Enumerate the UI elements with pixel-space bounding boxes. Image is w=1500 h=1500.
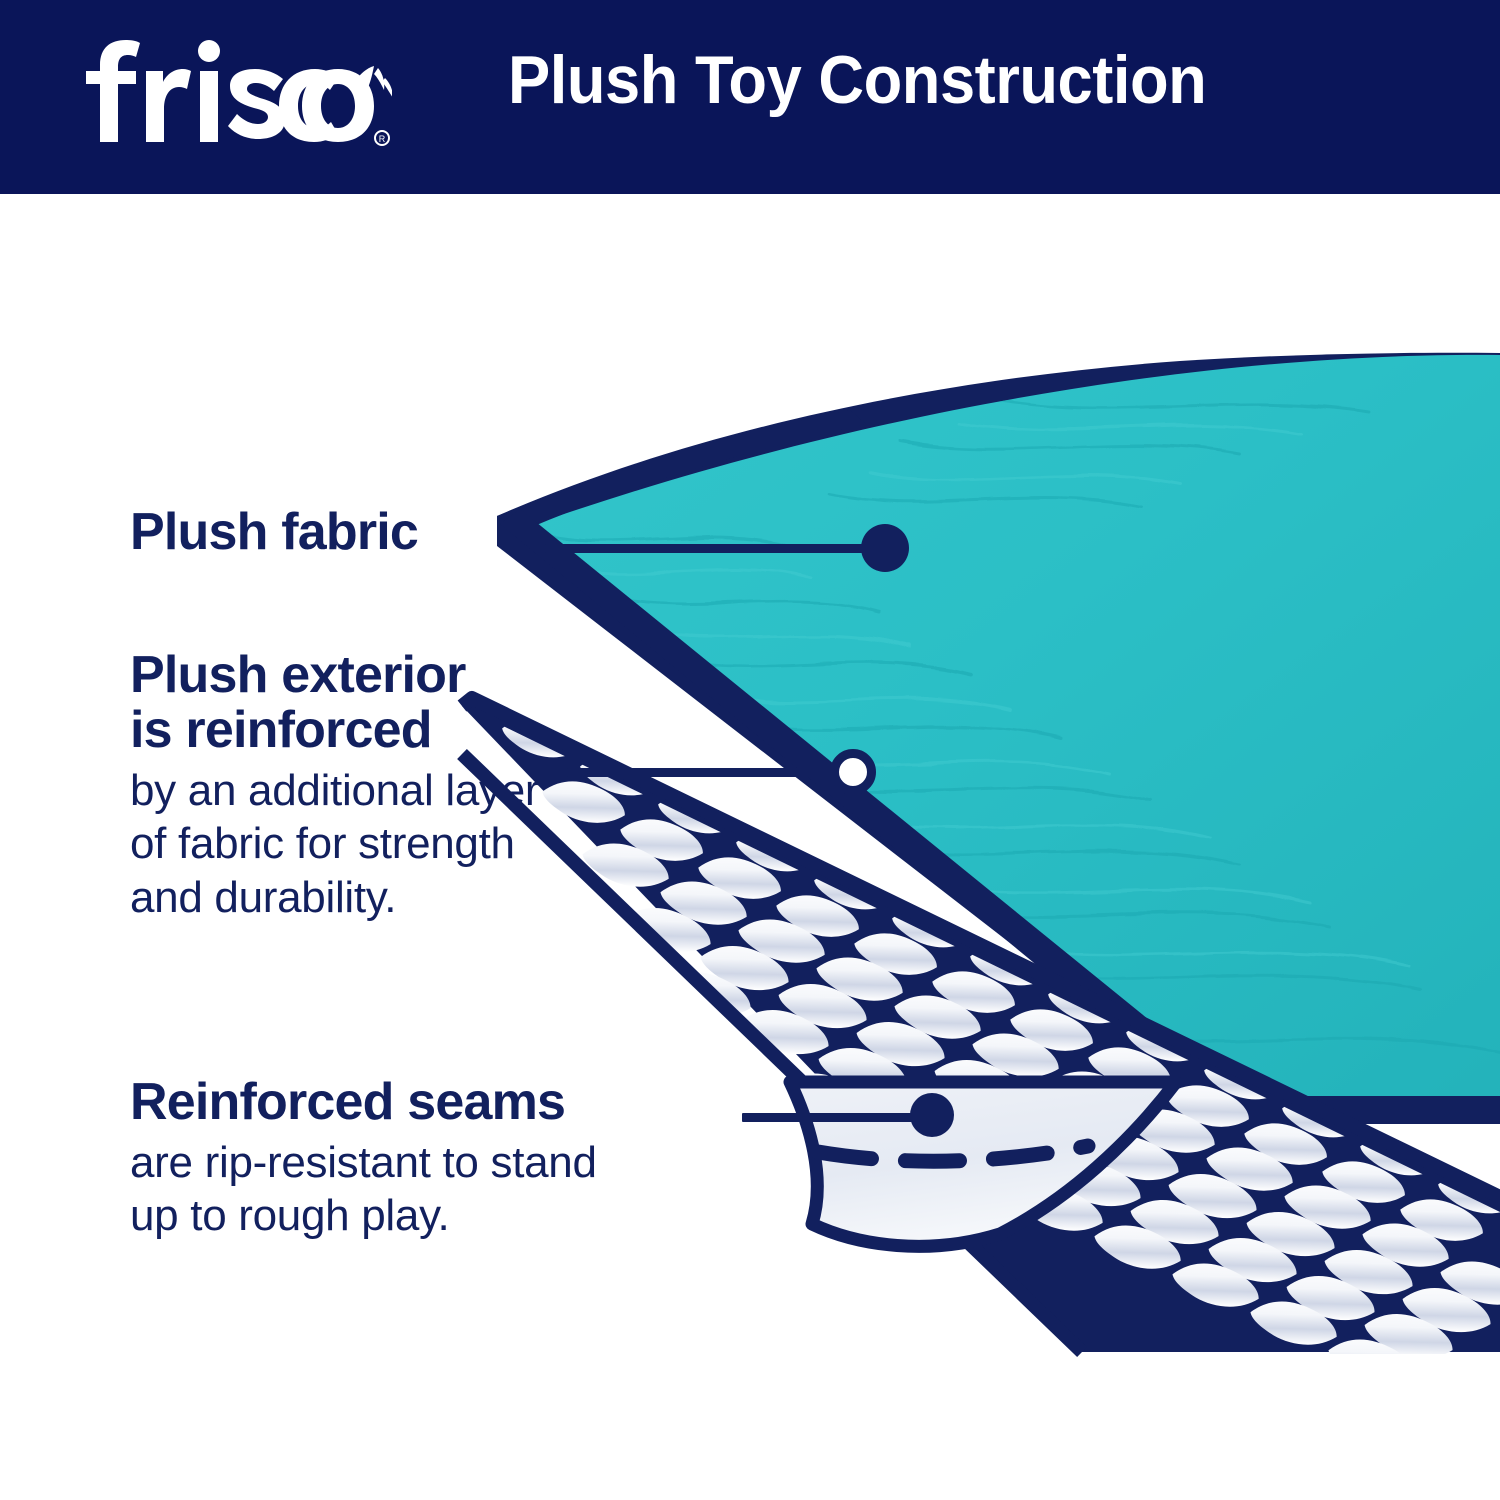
frisco-logo-wordmark: R — [82, 38, 392, 148]
callout-plush-fabric: Plush fabric — [130, 505, 418, 560]
callout-body: by an additional layer of fabric for str… — [130, 764, 539, 924]
infographic-page: R Plush Toy Construction — [0, 0, 1500, 1500]
callout-body: are rip-resistant to stand up to rough p… — [130, 1136, 597, 1242]
callout-plush-exterior-reinforced: Plush exterior is reinforced by an addit… — [130, 648, 539, 924]
header-bar: R Plush Toy Construction — [0, 0, 1500, 194]
registered-trademark-icon: R — [375, 131, 389, 145]
callout-marker-dot-plush-fabric — [861, 524, 909, 572]
callout-heading: Plush exterior is reinforced — [130, 648, 539, 758]
callout-heading: Reinforced seams — [130, 1075, 597, 1130]
svg-text:R: R — [379, 134, 386, 144]
page-title: Plush Toy Construction — [508, 46, 1206, 114]
callout-marker-dot-plush-exterior — [830, 749, 876, 795]
leader-line-reinforced-seams — [742, 1113, 937, 1122]
leader-line-plush-exterior — [567, 768, 857, 777]
frisco-logo: R — [82, 38, 392, 148]
leader-line-plush-fabric — [545, 544, 890, 553]
callout-heading: Plush fabric — [130, 505, 418, 560]
callout-marker-dot-reinforced-seams — [910, 1093, 954, 1137]
callout-reinforced-seams: Reinforced seams are rip-resistant to st… — [130, 1075, 597, 1243]
